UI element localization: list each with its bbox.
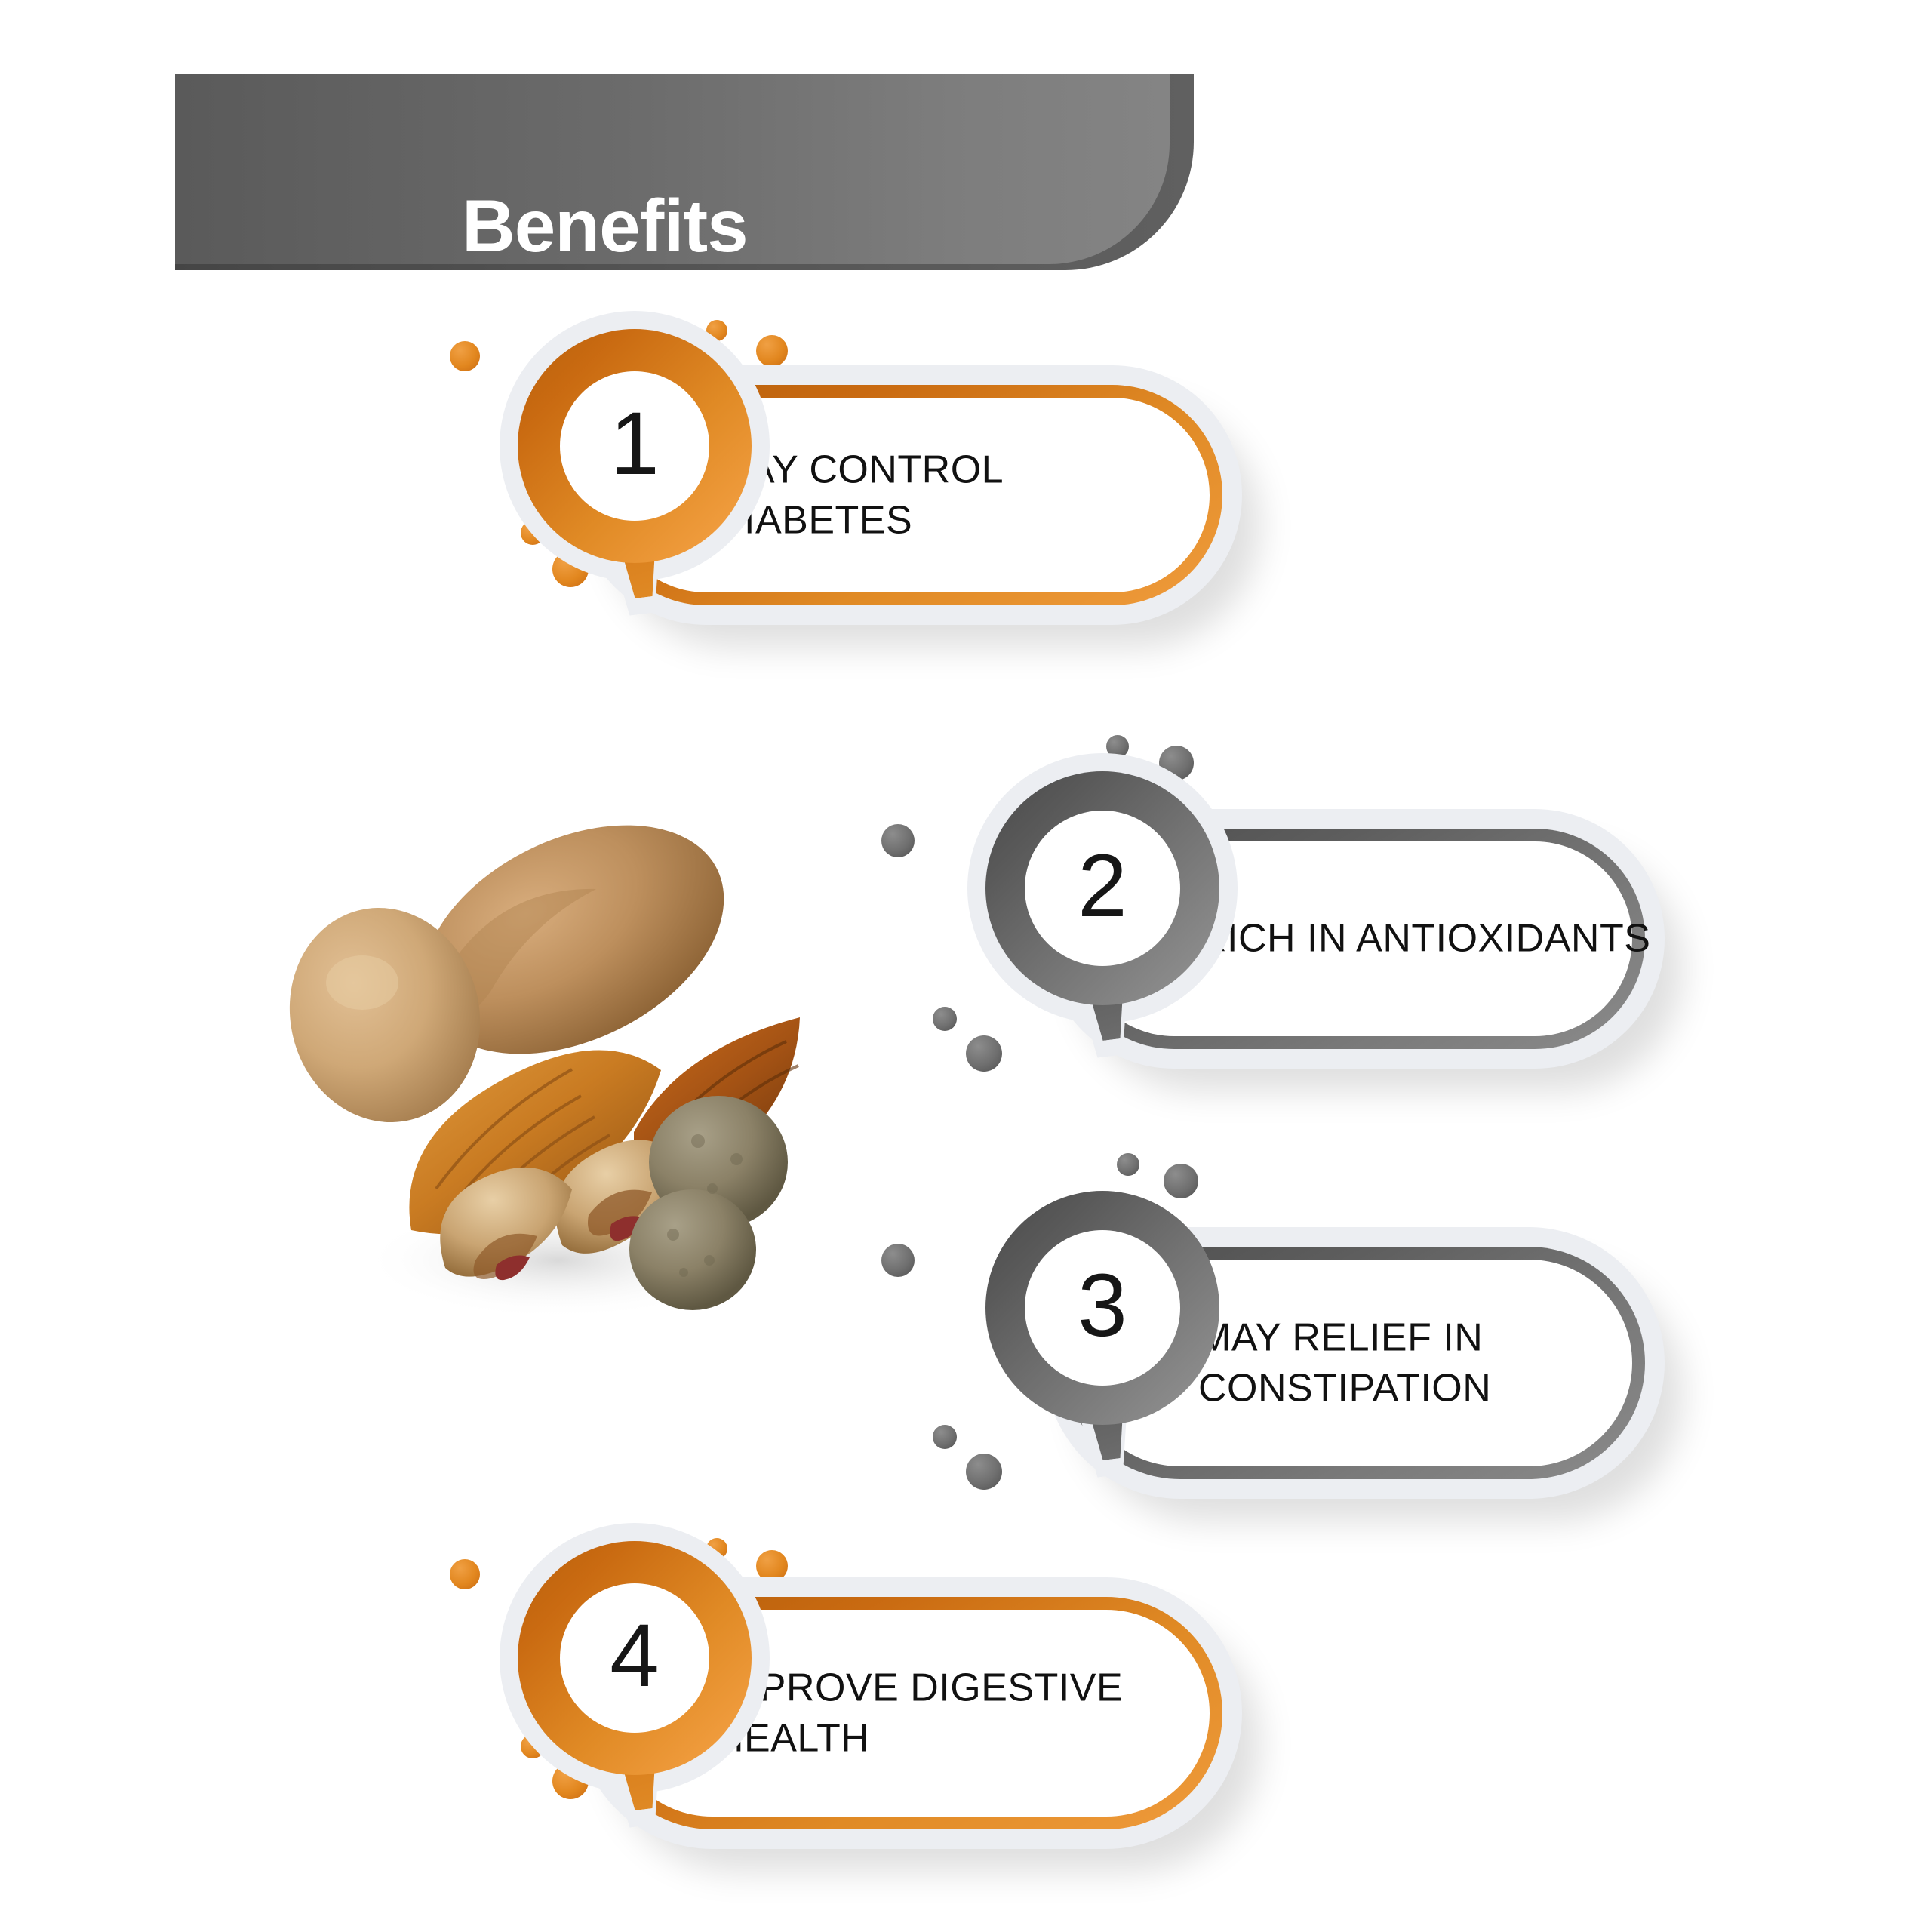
decorative-dot — [756, 335, 788, 367]
dried-nuts-photo — [257, 808, 807, 1336]
benefit-label-4: IMPROVE DIGESTIVE HEALTH — [715, 1663, 1213, 1763]
header-banner: Benefits — [175, 74, 1194, 270]
decorative-dot — [881, 824, 915, 857]
benefit-badge-4[interactable]: 4 — [518, 1541, 752, 1775]
decorative-dot — [450, 341, 480, 371]
page-title: Benefits — [462, 189, 748, 263]
decorative-dot — [933, 1007, 957, 1031]
benefit-number-4: 4 — [518, 1541, 752, 1775]
benefit-badge-2[interactable]: 2 — [985, 771, 1219, 1005]
decorative-dot — [966, 1454, 1002, 1490]
decorative-dot — [1117, 1153, 1139, 1176]
benefit-number-3: 3 — [985, 1191, 1219, 1425]
decorative-dot — [450, 1559, 480, 1589]
decorative-dot — [881, 1244, 915, 1277]
benefit-number-2: 2 — [985, 771, 1219, 1005]
infographic-canvas: Benefits — [0, 0, 1931, 1932]
decorative-dot — [966, 1035, 1002, 1072]
benefit-label-1: MAY CONTROL DIABETES — [715, 445, 1198, 545]
benefit-label-2: RICH IN ANTIOXIDANTS — [1198, 914, 1651, 964]
benefit-badge-3[interactable]: 3 — [985, 1191, 1219, 1425]
benefit-label-3: MAY RELIEF IN CONSTIPATION — [1198, 1312, 1651, 1413]
benefit-badge-1[interactable]: 1 — [518, 329, 752, 563]
benefit-number-1: 1 — [518, 329, 752, 563]
decorative-dot — [933, 1425, 957, 1449]
